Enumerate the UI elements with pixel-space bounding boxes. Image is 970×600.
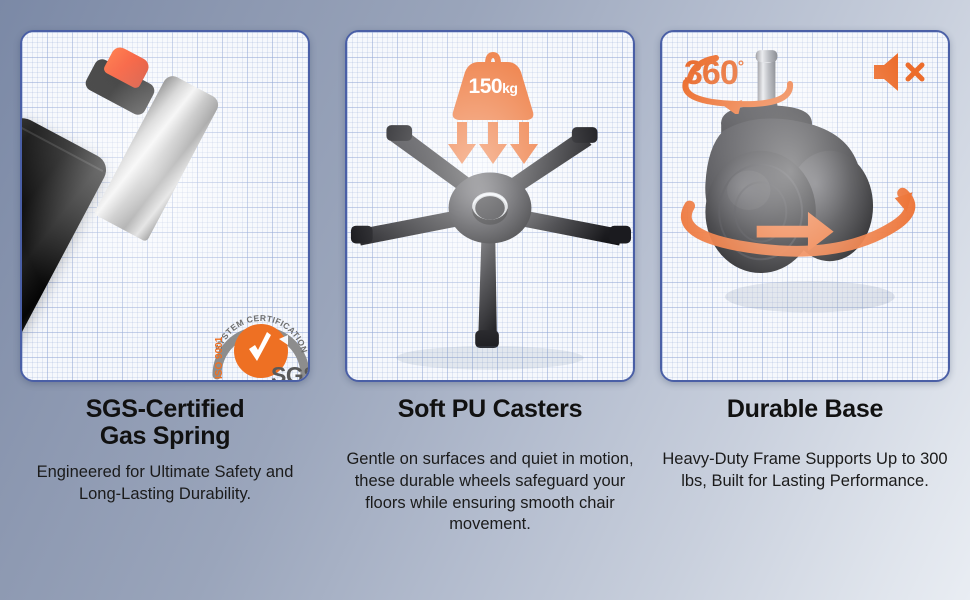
infographic-board: SYSTEM CERTIFICATION ISO 9001 SGS	[0, 0, 970, 600]
feature-card-durable-base: 360°	[660, 30, 950, 382]
feature-title-casters: Soft PU Casters	[340, 396, 640, 423]
weight-value: 150	[469, 75, 503, 98]
weight-unit: kg	[502, 80, 517, 96]
caption-durable-base: Durable Base Heavy-Duty Frame Supports U…	[655, 396, 955, 493]
feature-body-casters: Gentle on surfaces and quiet in motion, …	[340, 449, 640, 536]
feature-title-durable-base: Durable Base	[655, 396, 955, 423]
feature-title-line-2: Gas Spring	[15, 423, 315, 450]
feature-card-casters: 150kg	[345, 30, 635, 382]
weight-capacity-label: 150kg	[445, 76, 541, 97]
feature-title-line-1: SGS-Certified	[15, 396, 315, 423]
sgs-certification-badge: SYSTEM CERTIFICATION ISO 9001 SGS	[205, 279, 310, 382]
feature-card-gas-spring: SYSTEM CERTIFICATION ISO 9001 SGS	[20, 30, 310, 382]
chair-base-illustration: 150kg	[347, 32, 633, 380]
caster-wheel-illustration: 360°	[662, 32, 948, 380]
svg-text:ISO 9001: ISO 9001	[214, 336, 225, 379]
feature-body-gas-spring: Engineered for Ultimate Safety and Long-…	[15, 462, 315, 506]
speaker-mute-icon	[870, 50, 932, 94]
feature-title-gas-spring: SGS-Certified Gas Spring	[15, 396, 315, 450]
svg-text:SGS: SGS	[271, 362, 310, 382]
feature-body-durable-base: Heavy-Duty Frame Supports Up to 300 lbs,…	[655, 449, 955, 493]
caption-casters: Soft PU Casters Gentle on surfaces and q…	[340, 396, 640, 536]
degree-symbol: °	[738, 59, 743, 76]
rotation-value: 360	[684, 54, 738, 92]
gas-spring-black-cylinder	[20, 113, 112, 382]
rotation-360-label: 360°	[684, 54, 743, 93]
caption-gas-spring: SGS-Certified Gas Spring Engineered for …	[15, 396, 315, 506]
rotation-360-badge: 360°	[678, 48, 796, 114]
weight-capacity-badge: 150kg	[445, 50, 541, 122]
gas-spring-illustration: SYSTEM CERTIFICATION ISO 9001 SGS	[22, 32, 308, 380]
downward-force-arrows	[443, 120, 543, 168]
